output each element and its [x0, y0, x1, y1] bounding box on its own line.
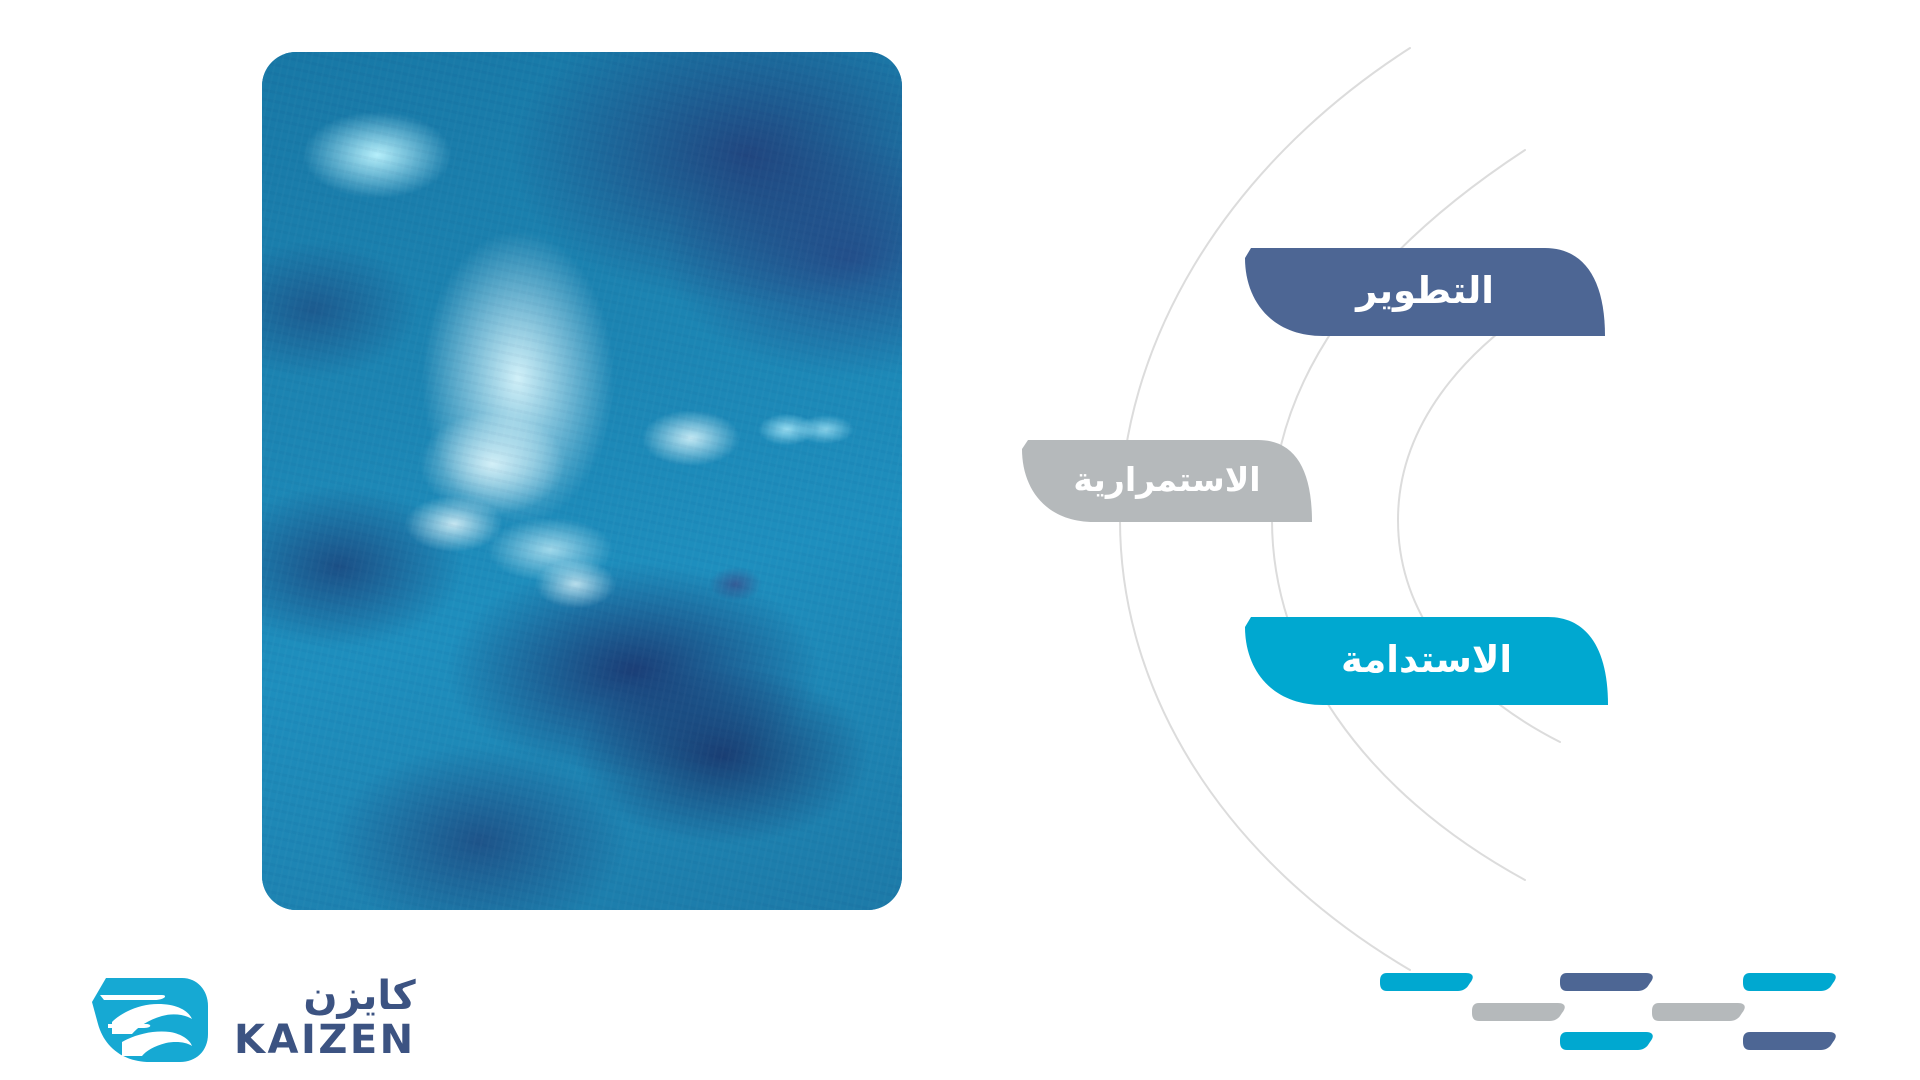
- kaizen-logo[interactable]: كايزن KAIZEN: [92, 972, 416, 1064]
- dash-motif-decoration: [1380, 968, 1880, 1060]
- photo-grain-overlay: [262, 52, 902, 910]
- badge-development[interactable]: التطوير: [1245, 248, 1605, 336]
- dash-bar: [1652, 1003, 1745, 1021]
- slide-canvas: التطوير الاستمرارية الاستدامة كايزن KAIZ…: [0, 0, 1920, 1080]
- dash-bar: [1380, 973, 1473, 991]
- dash-bar: [1560, 973, 1653, 991]
- badge-sustainability[interactable]: الاستدامة: [1245, 617, 1608, 705]
- badge-development-label: التطوير: [1356, 272, 1494, 309]
- badge-sustainability-label: الاستدامة: [1341, 641, 1512, 678]
- dash-bar: [1743, 1032, 1836, 1050]
- fuel-nozzle-photo: [262, 52, 902, 910]
- dash-bar: [1560, 1032, 1653, 1050]
- kaizen-wordmark-arabic: كايزن: [234, 976, 416, 1016]
- kaizen-wordmark: كايزن KAIZEN: [234, 976, 416, 1060]
- badge-continuity[interactable]: الاستمرارية: [1022, 440, 1312, 522]
- kaizen-wing-mark-icon: [92, 972, 210, 1064]
- badge-continuity-label: الاستمرارية: [1073, 463, 1260, 496]
- dash-bar: [1472, 1003, 1565, 1021]
- kaizen-wordmark-latin: KAIZEN: [234, 1020, 416, 1060]
- dash-bar: [1743, 973, 1836, 991]
